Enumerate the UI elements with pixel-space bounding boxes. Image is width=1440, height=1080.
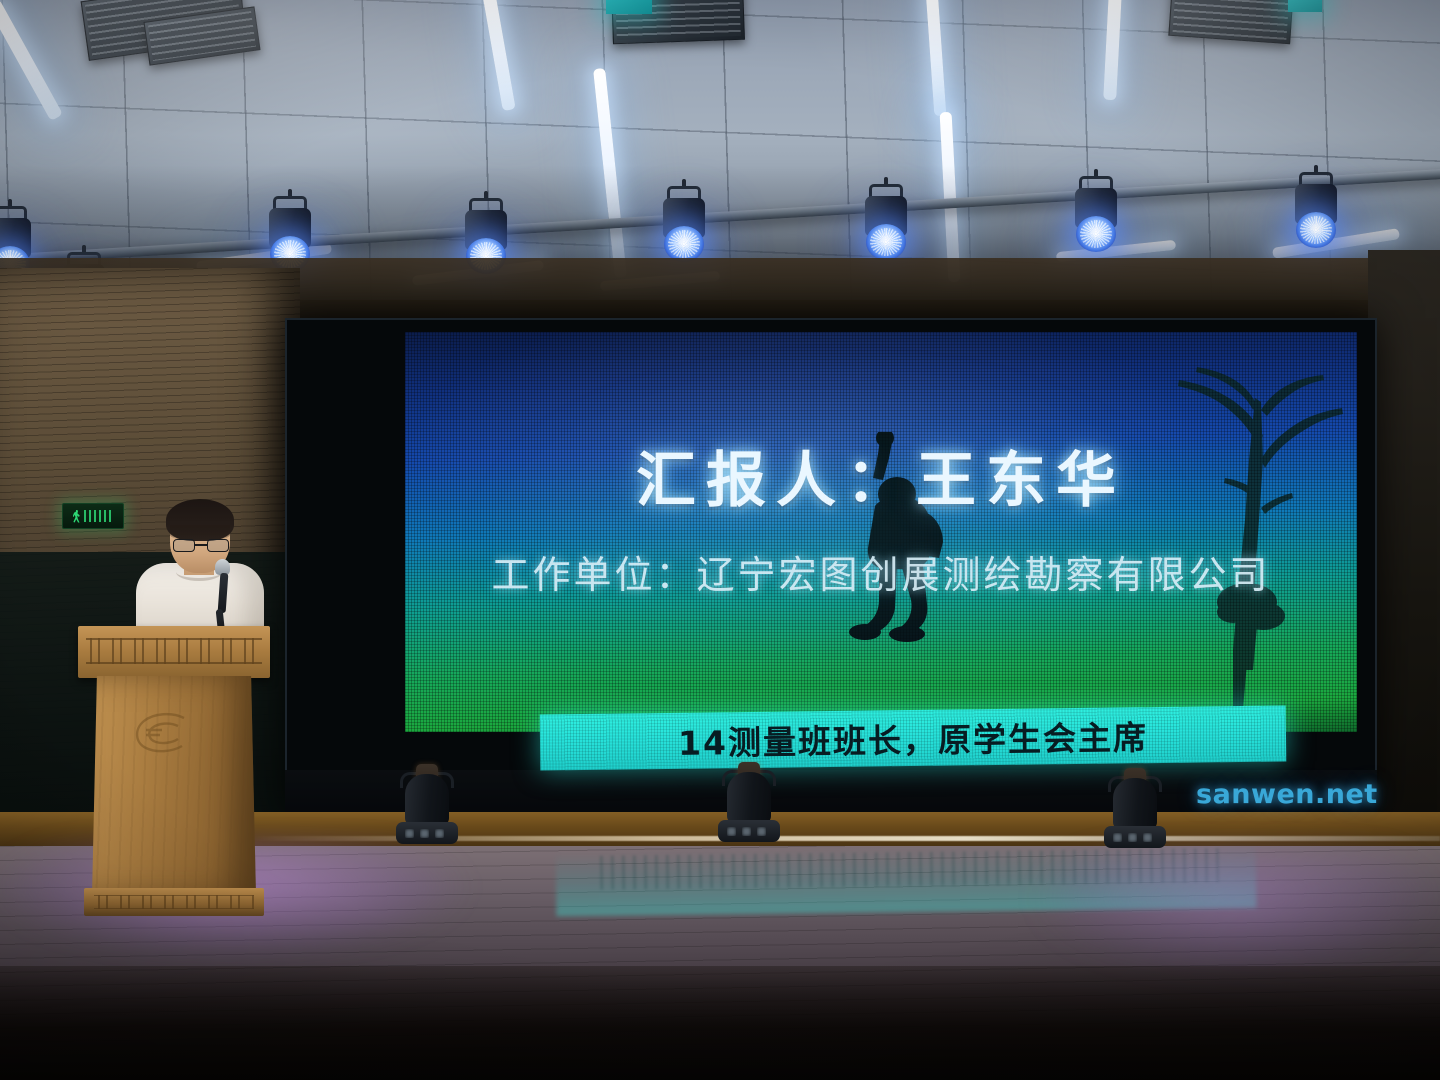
moving-head-base [1104,826,1166,848]
ceiling [0,0,1440,300]
running-man-icon [73,510,82,523]
exit-sign-text [84,510,114,522]
podium-top-surface [78,626,270,678]
par-lamp-lens [1076,216,1116,252]
par-lamp-lens [866,224,906,260]
slide-title: 汇报人：王东华 [405,432,1357,519]
moving-head-light [396,762,458,844]
stage-foreground-shadow [0,966,1440,1080]
school-emblem-icon [126,708,196,756]
greek-key-pattern-top [86,638,262,664]
presentation-slide: 汇报人：王东华 工作单位：辽宁宏图创展测绘勘察有限公司 [405,332,1357,732]
par-stage-light [858,184,914,260]
par-stage-light [656,186,712,262]
par-lamp-lens [1296,212,1336,248]
slide-banner: 14测量班班长，原学生会主席 [540,705,1287,770]
moving-head-light [1104,766,1166,848]
watermark-text: sanwen.net [1196,779,1378,810]
podium-base [84,888,264,916]
par-stage-light [1068,176,1124,252]
par-stage-light [1288,172,1344,248]
ceiling-shading [0,0,1440,300]
moving-head-light [718,760,780,842]
auditorium-photo: 汇报人：王东华 工作单位：辽宁宏图创展测绘勘察有限公司 14测量班班长，原学生会… [0,0,1440,1080]
par-lamp-lens [664,226,704,262]
right-wall [1368,250,1440,890]
slide-banner-text: 14测量班班长，原学生会主席 [678,711,1148,765]
emergency-exit-sign [62,503,124,529]
wooden-podium [78,626,270,916]
bare-tree-silhouette-icon [1137,340,1347,732]
moving-head-base [396,822,458,844]
moving-head-base [718,820,780,842]
speaker-hair [166,499,234,541]
slide-glow [405,332,1357,732]
speaker-glasses [173,539,229,552]
greek-key-pattern-bottom [94,895,254,909]
microphone-stem [218,573,229,613]
slide-subtitle: 工作单位：辽宁宏图创展测绘勘察有限公司 [405,544,1357,599]
